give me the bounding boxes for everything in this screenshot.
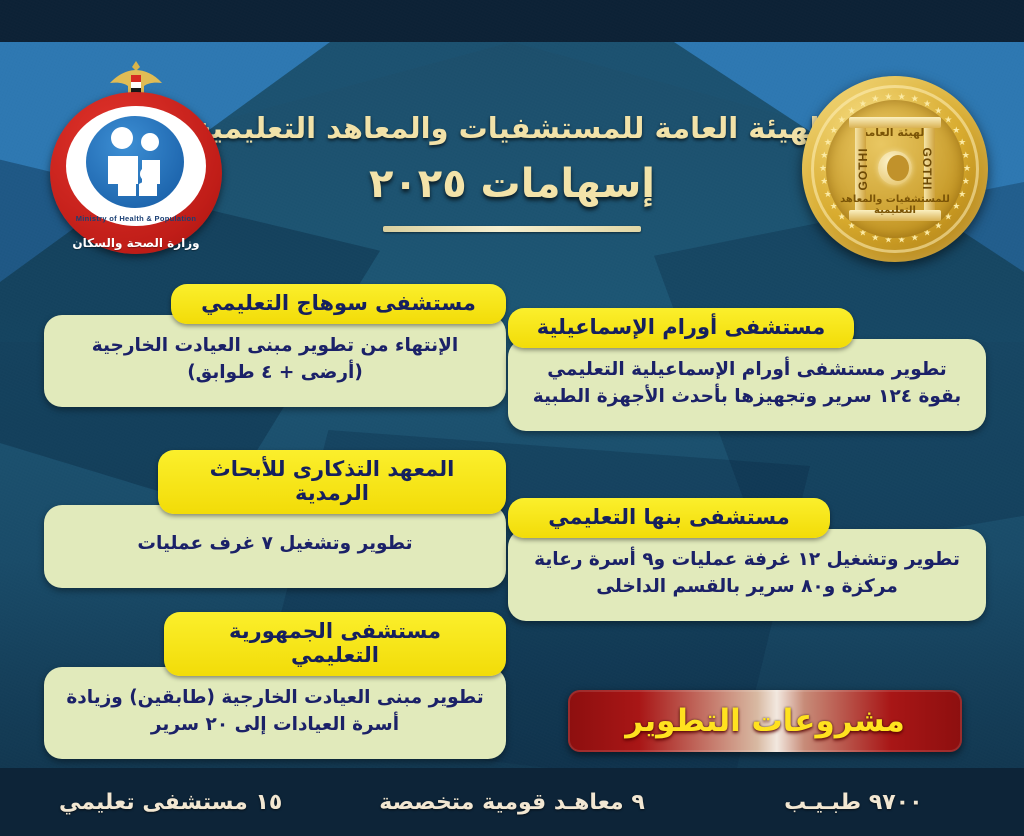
ministry-name-en: Ministry of Health & Population bbox=[66, 214, 206, 223]
infographic-poster: Ministry of Health & Population وزارة ال… bbox=[0, 0, 1024, 836]
card-sohag-teaching-hospital[interactable]: مستشفى سوهاج التعليمي الإنتهاء من تطوير … bbox=[44, 284, 506, 407]
authority-acronym-right: GOTHI bbox=[920, 148, 934, 191]
card-ismailia-oncology-hospital[interactable]: مستشفى أورام الإسماعيلية تطوير مستشفى أو… bbox=[508, 308, 986, 431]
card-gomhoria-teaching-hospital[interactable]: مستشفى الجمهورية التعليمي تطوير مبنى الع… bbox=[44, 612, 506, 759]
title-divider bbox=[383, 226, 641, 232]
card-body: تطوير وتشغيل ١٢ غرفة عمليات و٩ أسرة رعاي… bbox=[508, 529, 986, 621]
footer-stats-bar: ٩٧٠٠ طبـيـب ٩ معاهـد قومية متخصصة ١٥ مست… bbox=[0, 768, 1024, 836]
development-projects-banner[interactable]: مشروعات التطوير bbox=[568, 690, 962, 752]
card-title: مستشفى الجمهورية التعليمي bbox=[164, 612, 506, 676]
ministry-logo-blue-circle bbox=[86, 116, 184, 208]
family-icon bbox=[86, 116, 184, 208]
card-title: المعهد التذكارى للأبحاث الرمدية bbox=[158, 450, 506, 514]
ministry-of-health-logo: Ministry of Health & Population وزارة ال… bbox=[42, 58, 230, 254]
card-title: مستشفى سوهاج التعليمي bbox=[171, 284, 506, 324]
card-banha-teaching-hospital[interactable]: مستشفى بنها التعليمي تطوير وتشغيل ١٢ غرف… bbox=[508, 498, 986, 621]
card-body: الإنتهاء من تطوير مبنى العيادت الخارجية … bbox=[44, 315, 506, 407]
footer-stat-doctors: ٩٧٠٠ طبـيـب bbox=[683, 790, 1024, 815]
card-memorial-ophthalmic-institute[interactable]: المعهد التذكارى للأبحاث الرمدية تطوير وت… bbox=[44, 450, 506, 588]
card-body: تطوير مبنى العيادت الخارجية (طابقين) وزي… bbox=[44, 667, 506, 759]
card-title: مستشفى بنها التعليمي bbox=[508, 498, 830, 538]
ministry-logo-ring: Ministry of Health & Population وزارة ال… bbox=[50, 92, 222, 254]
footer-stat-institutes: ٩ معاهـد قومية متخصصة bbox=[341, 790, 682, 815]
authority-name-ar-bottom: للمستشفيات والمعاهد التعليمية bbox=[826, 194, 964, 216]
authority-medallion-logo: ★★★★★★★★★★★★★★★★★★★★★★★★★★★★★★★★★★ الهيئ… bbox=[802, 76, 988, 262]
medallion-inner-disc: الهيئة العامة GOTHI GOTHI للمستشفيات وال… bbox=[826, 100, 964, 238]
authority-acronym-left: GOTHI bbox=[856, 148, 870, 191]
card-body: تطوير مستشفى أورام الإسماعيلية التعليمي … bbox=[508, 339, 986, 431]
column-capital bbox=[849, 117, 941, 128]
ministry-name-ar: وزارة الصحة والسكان bbox=[50, 236, 222, 250]
card-body: تطوير وتشغيل ٧ غرف عمليات bbox=[44, 505, 506, 588]
ministry-logo-inner-white: Ministry of Health & Population bbox=[66, 106, 206, 226]
footer-stat-hospitals: ١٥ مستشفى تعليمي bbox=[0, 790, 341, 815]
banner-label: مشروعات التطوير bbox=[625, 703, 905, 739]
sun-icon bbox=[878, 151, 912, 185]
card-title: مستشفى أورام الإسماعيلية bbox=[508, 308, 854, 348]
star-icon: ★ bbox=[963, 164, 971, 174]
